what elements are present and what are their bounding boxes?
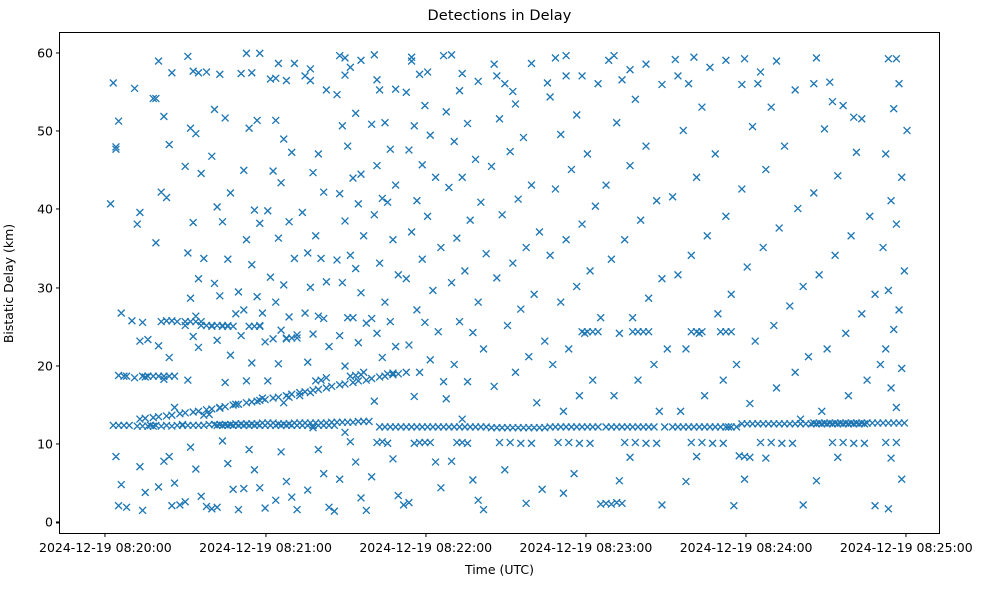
- x-tick-label: 2024-12-19 08:25:00: [840, 540, 973, 555]
- x-tick-label: 2024-12-19 08:22:00: [359, 540, 492, 555]
- page-title: Detections in Delay: [59, 8, 940, 24]
- y-tick-label: 60: [37, 45, 53, 60]
- x-tick-mark: [746, 533, 747, 537]
- y-tick-label: 30: [37, 280, 53, 295]
- x-tick-label: 2024-12-19 08:21:00: [199, 540, 332, 555]
- x-tick-mark: [105, 533, 106, 537]
- y-tick-label: 10: [37, 437, 53, 452]
- plot-area: 01020304050602024-12-19 08:20:002024-12-…: [59, 32, 940, 534]
- y-tick-mark: [56, 130, 60, 131]
- y-tick-label: 0: [45, 515, 53, 530]
- y-tick-label: 20: [37, 358, 53, 373]
- x-tick-mark: [585, 533, 586, 537]
- x-tick-mark: [425, 533, 426, 537]
- scatter-series: [60, 33, 939, 533]
- y-tick-mark: [56, 444, 60, 445]
- y-tick-mark: [56, 522, 60, 523]
- y-tick-label: 50: [37, 123, 53, 138]
- y-tick-label: 40: [37, 202, 53, 217]
- x-axis-label: Time (UTC): [59, 562, 940, 577]
- y-tick-mark: [56, 209, 60, 210]
- x-tick-mark: [906, 533, 907, 537]
- y-axis-label-text: Bistatic Delay (km): [2, 223, 17, 342]
- x-tick-label: 2024-12-19 08:24:00: [680, 540, 813, 555]
- x-tick-mark: [265, 533, 266, 537]
- y-tick-mark: [56, 287, 60, 288]
- x-tick-label: 2024-12-19 08:23:00: [520, 540, 653, 555]
- y-axis-label: Bistatic Delay (km): [0, 32, 18, 534]
- matplotlib-figure: Detections in Delay Bistatic Delay (km) …: [0, 0, 985, 590]
- y-tick-mark: [56, 365, 60, 366]
- x-tick-label: 2024-12-19 08:20:00: [39, 540, 172, 555]
- y-tick-mark: [56, 52, 60, 53]
